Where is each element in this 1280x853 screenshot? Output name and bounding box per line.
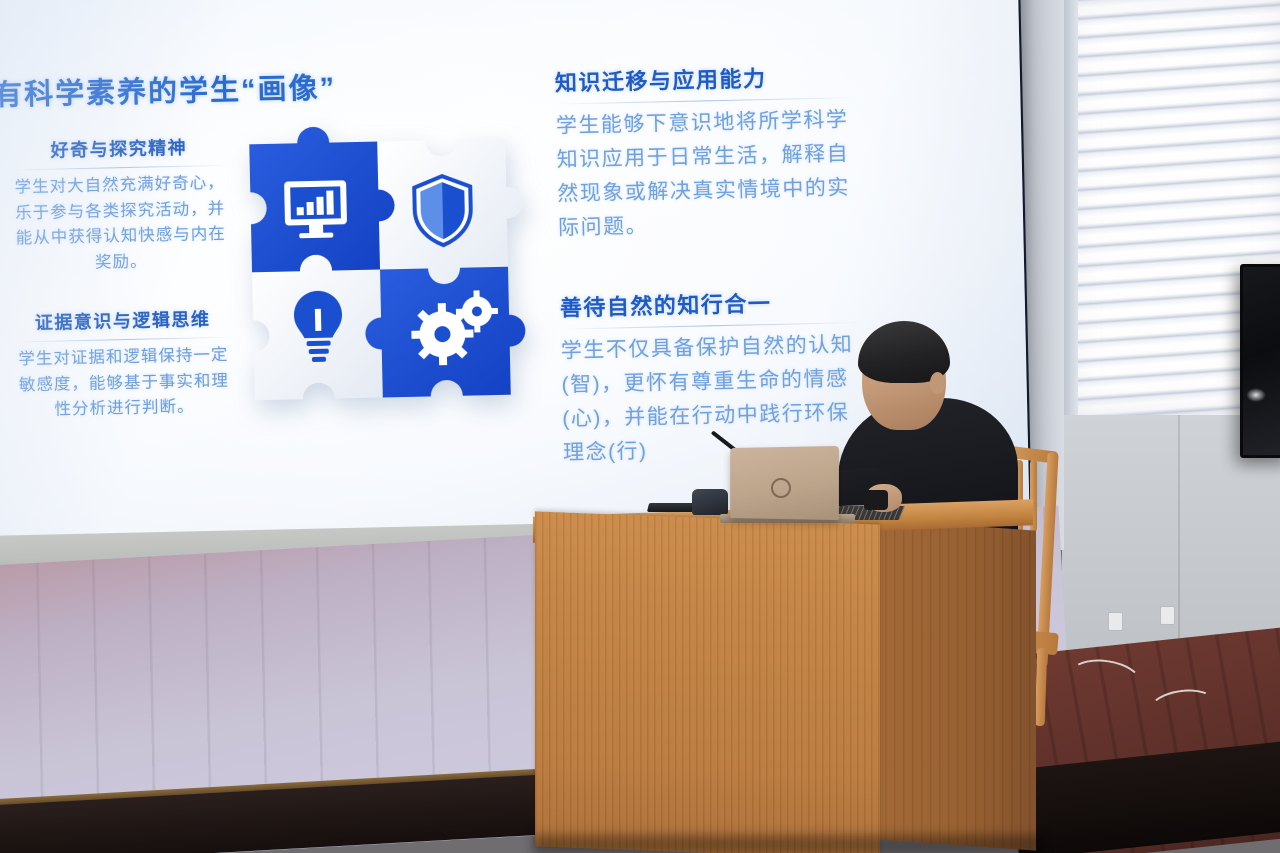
tv-screen-glare — [1246, 388, 1266, 402]
dell-logo-icon — [771, 478, 791, 498]
lecture-photo-scene: 具有科学素养的学生“画像” 好奇与探究精神 学生对大自然充满好奇心，乐于参与各类… — [0, 0, 1280, 853]
presentation-clicker[interactable] — [864, 490, 888, 510]
presenter-ear — [930, 372, 945, 394]
wall-seam — [1178, 415, 1180, 665]
power-outlet[interactable] — [1108, 612, 1123, 631]
power-outlet[interactable] — [1160, 606, 1175, 625]
presenter-remote-on-desk[interactable] — [647, 503, 695, 512]
lectern-front-panel[interactable] — [535, 511, 880, 853]
microphone-base[interactable] — [692, 489, 728, 515]
wall-mounted-display[interactable] — [1240, 264, 1280, 458]
slat-panel-edge — [1062, 0, 1078, 420]
lectern-floor-shadow — [533, 835, 1043, 853]
